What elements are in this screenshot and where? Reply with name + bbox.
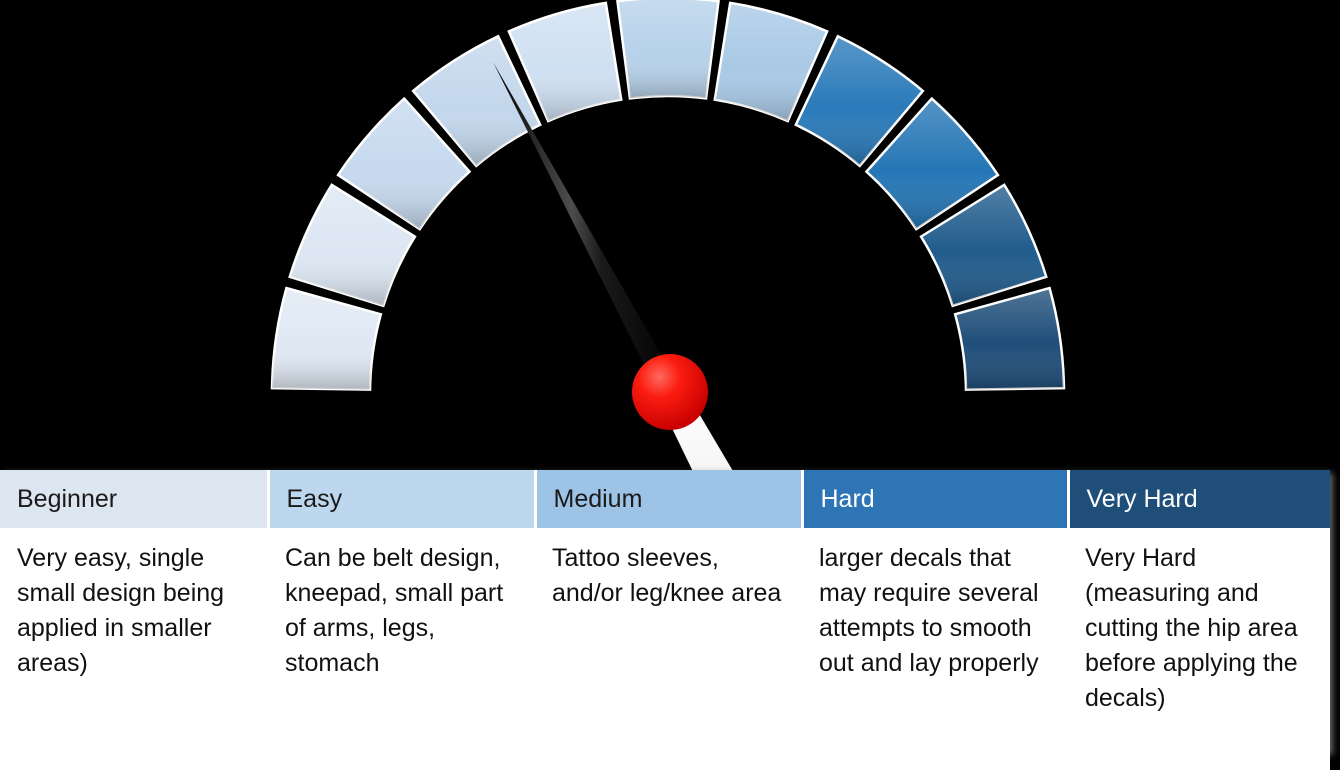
gauge-segment-shade-6 — [617, 0, 718, 98]
difficulty-legend-table: Beginner Easy Medium Hard Very Hard Very… — [0, 470, 1330, 752]
legend-body-hard: larger decals that may require several a… — [802, 530, 1068, 770]
legend-body-very-hard: Very Hard (measuring and cutting the hip… — [1068, 530, 1330, 770]
legend-header-beginner: Beginner — [0, 470, 268, 530]
needle-hub-icon — [632, 354, 708, 430]
gauge-segment-shade-11 — [955, 288, 1064, 389]
legend-header-hard: Hard — [802, 470, 1068, 530]
legend-body-beginner: Very easy, single small design being app… — [0, 530, 268, 770]
gauge-svg — [0, 0, 1340, 470]
gauge-segment-shade-1 — [272, 288, 381, 389]
legend-header-medium: Medium — [535, 470, 802, 530]
legend-body-easy: Can be belt design, kneepad, small part … — [268, 530, 535, 770]
legend-header-easy: Easy — [268, 470, 535, 530]
legend-body-row: Very easy, single small design being app… — [0, 530, 1330, 770]
legend-header-very-hard: Very Hard — [1068, 470, 1330, 530]
legend-header-row: Beginner Easy Medium Hard Very Hard — [0, 470, 1330, 530]
legend-table: Beginner Easy Medium Hard Very Hard Very… — [0, 470, 1330, 770]
slide-canvas: Beginner Easy Medium Hard Very Hard Very… — [0, 0, 1340, 767]
legend-body-medium: Tattoo sleeves, and/or leg/knee area — [535, 530, 802, 770]
gauge-chart — [0, 0, 1340, 470]
gauge-segment-group — [272, 0, 1064, 390]
needle-pointer — [493, 62, 680, 397]
